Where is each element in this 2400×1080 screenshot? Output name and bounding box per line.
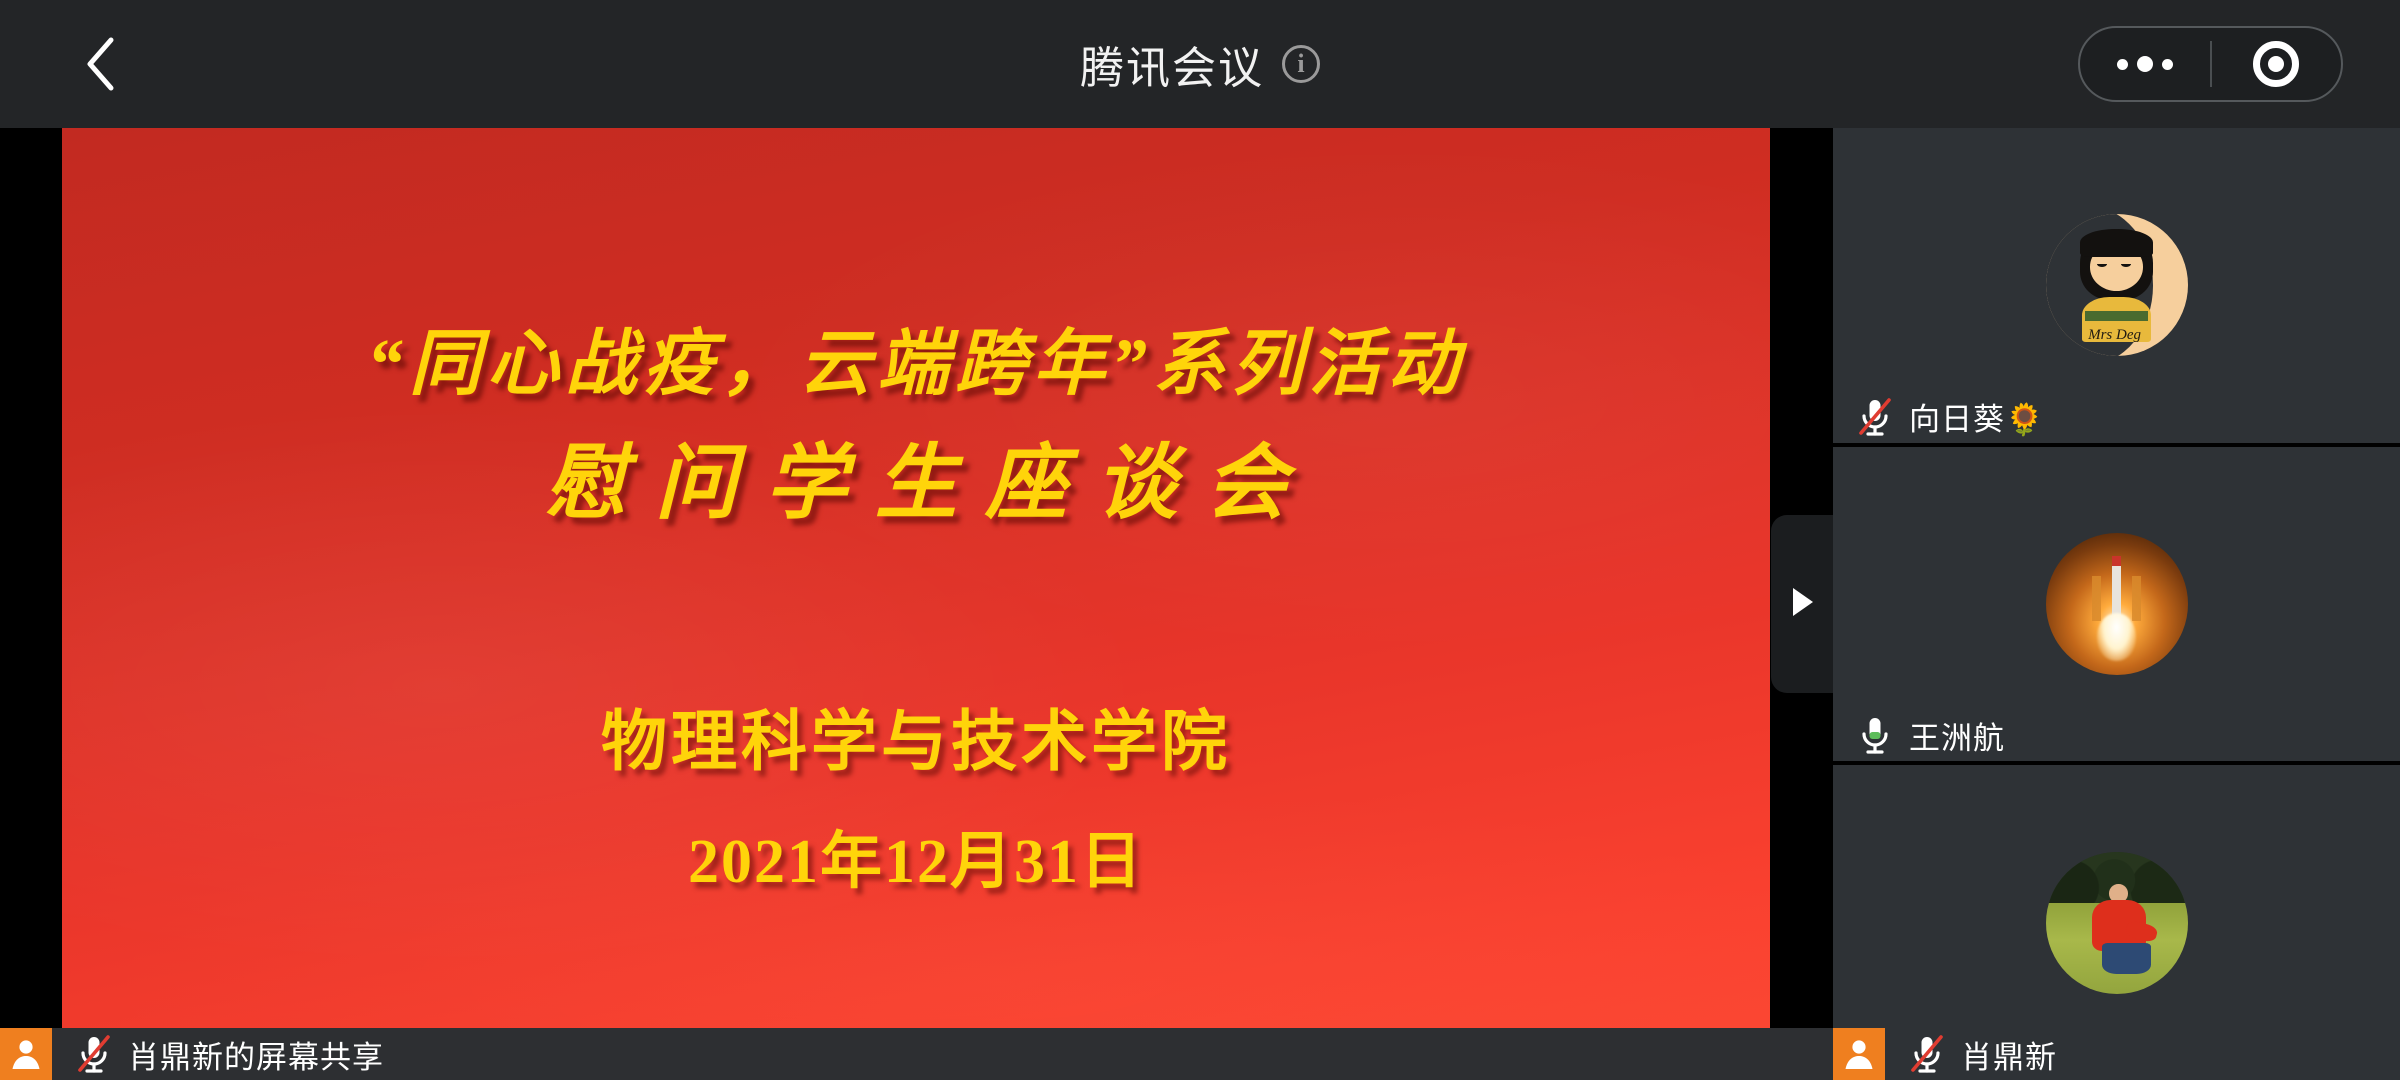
avatar-person-red-jacket xyxy=(2046,852,2188,994)
expand-participants-button[interactable] xyxy=(1771,515,1833,693)
slide-title-line2: 慰问学生座谈会 xyxy=(62,416,1770,535)
participant-sidebar[interactable]: Mrs Deg 向日葵🌻 xyxy=(1833,128,2400,1080)
chevron-left-icon xyxy=(83,35,117,93)
participant-tile[interactable]: 王洲航 xyxy=(1833,447,2400,762)
slide-date: 2021年12月31日 xyxy=(62,810,1770,900)
close-miniprogram-button[interactable] xyxy=(2212,28,2342,100)
more-dots-icon xyxy=(2117,56,2173,72)
shared-screen-stage[interactable]: “同心战疫，云端跨年”系列活动 慰问学生座谈会 物理科学与技术学院 2021年1… xyxy=(0,128,1833,1080)
wechat-capsule xyxy=(2078,26,2343,102)
more-menu-button[interactable] xyxy=(2080,28,2210,100)
shared-slide: “同心战疫，云端跨年”系列活动 慰问学生座谈会 物理科学与技术学院 2021年1… xyxy=(62,128,1770,1028)
host-person-icon xyxy=(1833,1028,1885,1080)
mic-on-icon xyxy=(1855,713,1895,757)
participant-footer: 王洲航 xyxy=(1833,709,2005,761)
participant-footer: 向日葵🌻 xyxy=(1833,391,2045,443)
capsule-close-icon xyxy=(2253,41,2299,87)
navbar-title-group: 腾讯会议 i xyxy=(0,0,2400,128)
participant-tile[interactable]: 肖鼎新 xyxy=(1833,765,2400,1080)
mic-muted-icon xyxy=(74,1032,114,1076)
back-button[interactable] xyxy=(70,29,130,99)
slide-content: “同心战疫，云端跨年”系列活动 慰问学生座谈会 物理科学与技术学院 2021年1… xyxy=(62,128,1770,1028)
slide-title-line1: “同心战疫，云端跨年”系列活动 xyxy=(62,304,1770,409)
host-person-icon xyxy=(0,1028,52,1080)
slide-organization: 物理科学与技术学院 xyxy=(62,688,1770,784)
participant-name: 向日葵🌻 xyxy=(1909,394,2045,439)
tencent-meeting-miniprogram: 腾讯会议 i “同心战疫，云端跨年”系列活动 慰问学生座谈会 物理科学与技术学院… xyxy=(0,0,2400,1080)
info-circle-icon[interactable]: i xyxy=(1282,45,1320,83)
participant-name: 肖鼎新 xyxy=(1961,1032,2057,1077)
avatar-cartoon-girl: Mrs Deg xyxy=(2046,214,2188,356)
participant-footer: 肖鼎新 xyxy=(1833,1028,2057,1080)
share-bar-content: 肖鼎新的屏幕共享 xyxy=(52,1032,384,1077)
participant-name: 王洲航 xyxy=(1909,713,2005,758)
mic-muted-icon xyxy=(1855,395,1895,439)
avatar-signature: Mrs Deg xyxy=(2088,327,2141,344)
chevron-right-icon xyxy=(1788,585,1816,624)
share-owner-label: 肖鼎新的屏幕共享 xyxy=(128,1032,384,1077)
page-title: 腾讯会议 xyxy=(1080,32,1264,96)
mic-muted-icon xyxy=(1907,1032,1947,1076)
screen-share-status-bar: 肖鼎新的屏幕共享 xyxy=(0,1028,1833,1080)
navbar: 腾讯会议 i xyxy=(0,0,2400,128)
participant-tile[interactable]: Mrs Deg 向日葵🌻 xyxy=(1833,128,2400,443)
avatar-rocket-launch xyxy=(2046,533,2188,675)
